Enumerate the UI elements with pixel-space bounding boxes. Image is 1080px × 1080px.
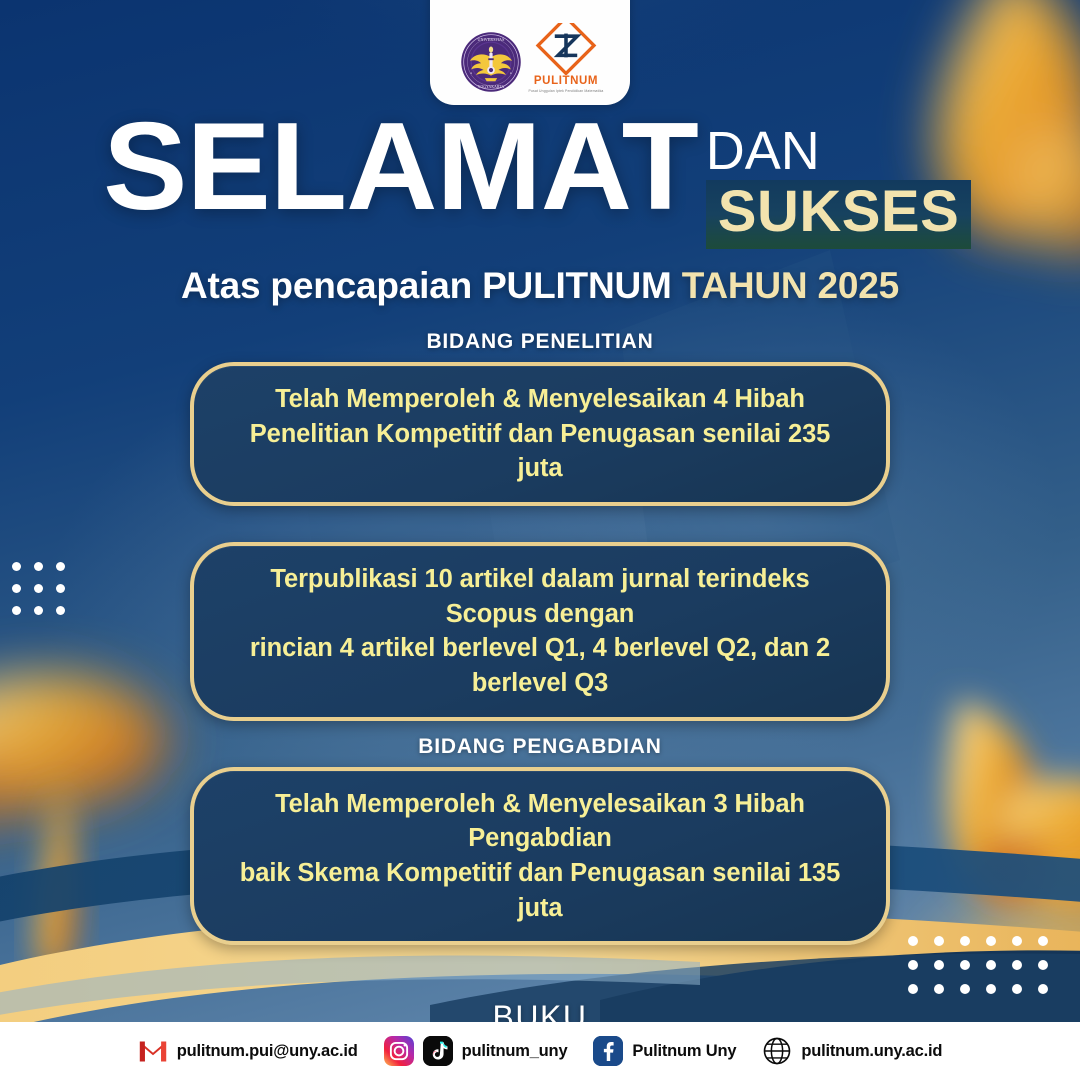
gmail-icon (138, 1040, 168, 1063)
headline-block: SELAMAT DAN SUKSES Atas pencapaian PULIT… (0, 110, 1080, 307)
facebook-icon (593, 1036, 623, 1066)
dot (908, 984, 918, 994)
social-item[interactable]: pulitnum.pui@uny.ac.id (138, 1040, 358, 1063)
pulitnum-logo: PULITNUM Pusat Unggulan Iptek Pendidikan… (532, 23, 600, 93)
svg-text:UNIVERSITAS: UNIVERSITAS (478, 37, 505, 42)
social-item[interactable]: pulitnum.uny.ac.id (762, 1036, 942, 1066)
instagram-icon (384, 1036, 414, 1066)
dot (12, 584, 21, 593)
achievement-card: Telah Memperoleh & Menyelesaikan 3 Hibah… (190, 767, 890, 946)
social-label: Pulitnum Uny (632, 1042, 736, 1061)
social-label: pulitnum.pui@uny.ac.id (177, 1042, 358, 1061)
headline-sukses: SUKSES (706, 180, 972, 249)
dot (56, 606, 65, 615)
text-segment: rincian 4 artikel berlevel Q1, 4 berleve… (250, 634, 830, 697)
spacer (0, 520, 1080, 542)
text-segment: Terpublikasi 10 artikel dalam jurnal ter… (270, 565, 809, 628)
headline-dan: DAN (706, 124, 820, 178)
dot (34, 562, 43, 571)
dot (986, 960, 996, 970)
dot-grid-right (908, 936, 1047, 994)
dot (56, 584, 65, 593)
dot (934, 936, 944, 946)
dot (56, 562, 65, 571)
pulitnum-wordmark: PULITNUM (534, 76, 598, 88)
dot (934, 960, 944, 970)
text-segment: baik Skema Kompetitif dan Penugasan seni… (240, 859, 840, 922)
achievement-text: Telah Memperoleh & Menyelesaikan 4 Hibah… (228, 382, 852, 486)
dot (1038, 960, 1048, 970)
dot (1012, 984, 1022, 994)
dot (908, 960, 918, 970)
dot (908, 936, 918, 946)
pulitnum-mark (533, 23, 599, 75)
dot (934, 984, 944, 994)
subheadline-year: TAHUN 2025 (682, 265, 899, 306)
text-segment: Telah Memperoleh & Menyelesaikan 3 Hibah… (275, 790, 805, 853)
achievement-card: Telah Memperoleh & Menyelesaikan 4 Hibah… (190, 362, 890, 506)
globe-icon (762, 1036, 792, 1066)
logo-panel: UNIVERSITAS YOGYAKARTA PULITNUM Pusat Un… (430, 0, 630, 105)
dot (12, 606, 21, 615)
social-label: pulitnum.uny.ac.id (801, 1042, 942, 1061)
pulitnum-tagline: Pusat Unggulan Iptek Pendidikan Matemati… (529, 89, 604, 93)
dot (986, 984, 996, 994)
dot (34, 606, 43, 615)
dot (960, 936, 970, 946)
dot (1012, 960, 1022, 970)
social-item[interactable]: Pulitnum Uny (593, 1036, 736, 1066)
achievement-text: Telah Memperoleh & Menyelesaikan 3 Hibah… (228, 787, 852, 926)
dot (960, 960, 970, 970)
section-title: BIDANG PENELITIAN (0, 330, 1080, 354)
headline-selamat: SELAMAT (103, 110, 698, 224)
achievement-text: Terpublikasi 10 artikel dalam jurnal ter… (228, 562, 852, 701)
social-item[interactable]: pulitnum_uny (384, 1036, 568, 1066)
achievement-card: Terpublikasi 10 artikel dalam jurnal ter… (190, 542, 890, 721)
section-title: BIDANG PENGABDIAN (0, 735, 1080, 759)
social-label: pulitnum_uny (462, 1042, 568, 1061)
dot (1038, 936, 1048, 946)
uny-logo: UNIVERSITAS YOGYAKARTA (460, 31, 522, 93)
text-segment: Penelitian Kompetitif dan Penugasan seni… (250, 420, 831, 483)
dot (12, 562, 21, 571)
text-segment: Telah Memperoleh & Menyelesaikan 4 Hibah (275, 385, 805, 413)
dot (1012, 936, 1022, 946)
dot (34, 584, 43, 593)
subheadline: Atas pencapaian PULITNUM TAHUN 2025 (0, 265, 1080, 307)
dot (986, 936, 996, 946)
svg-text:YOGYAKARTA: YOGYAKARTA (478, 85, 505, 89)
dot-grid-left (12, 562, 65, 615)
poster-canvas: UNIVERSITAS YOGYAKARTA PULITNUM Pusat Un… (0, 0, 1080, 1080)
dot (1038, 984, 1048, 994)
tiktok-icon (423, 1036, 453, 1066)
social-footer: pulitnum.pui@uny.ac.id pulitnum_uny Puli… (0, 1022, 1080, 1080)
subheadline-prefix: Atas pencapaian PULITNUM (181, 265, 682, 306)
dot (960, 984, 970, 994)
